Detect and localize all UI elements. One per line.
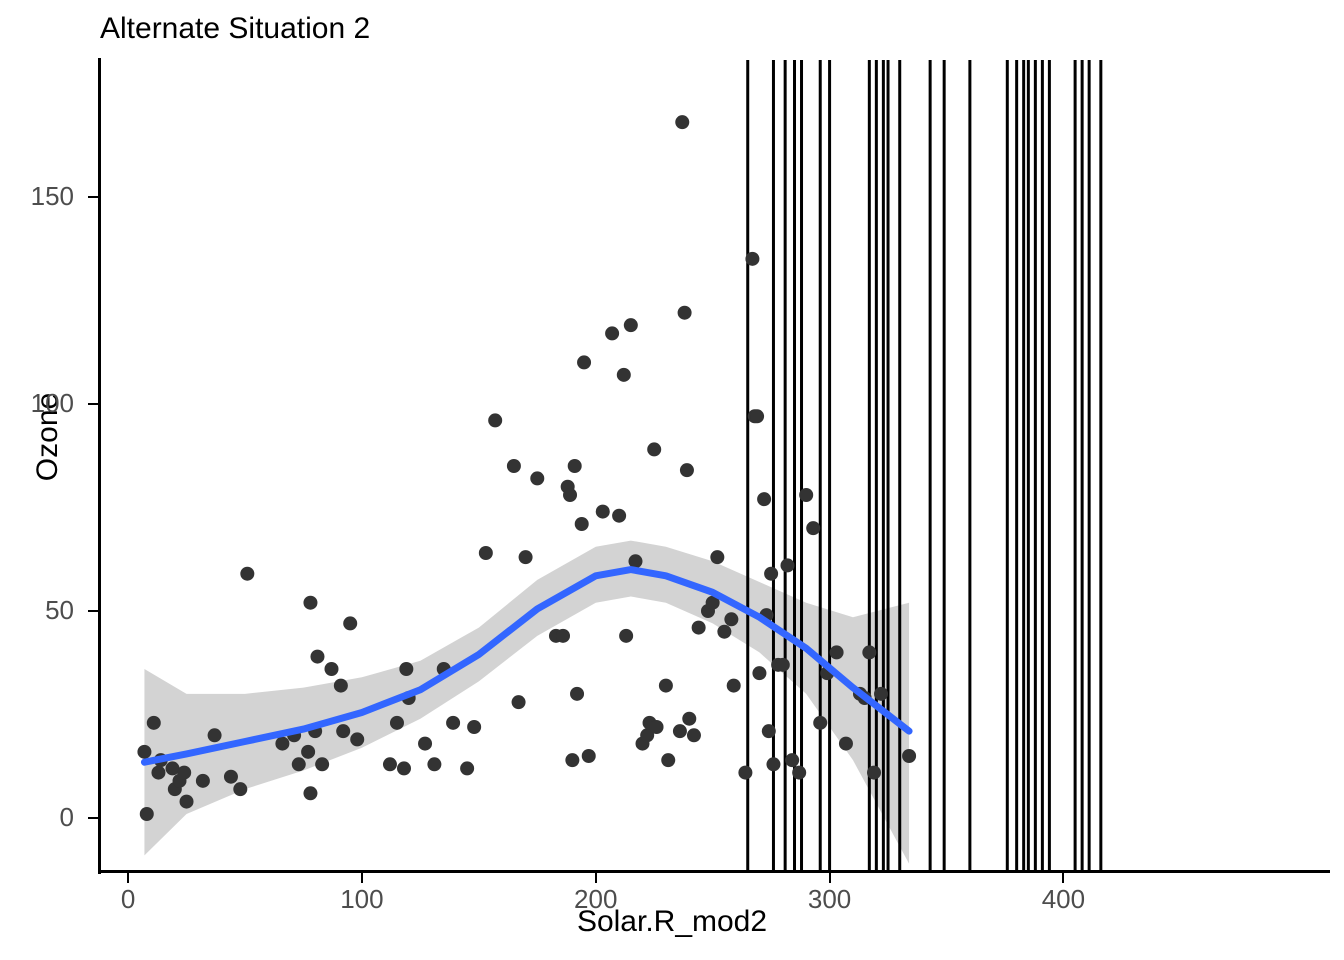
y-axis-line [98, 58, 101, 874]
x-tick-mark [595, 872, 597, 883]
x-tick-label: 0 [121, 884, 135, 915]
y-tick-label: 150 [31, 181, 74, 212]
plot-svg [100, 60, 1330, 872]
y-tick-mark [88, 817, 99, 819]
vertical-reference-lines [748, 60, 1101, 872]
y-tick-label: 50 [45, 595, 74, 626]
y-tick-mark [88, 610, 99, 612]
y-tick-mark [88, 196, 99, 198]
y-tick-label: 100 [31, 388, 74, 419]
x-axis-line [98, 870, 1330, 873]
x-tick-label: 400 [1042, 884, 1085, 915]
plot-panel [100, 60, 1330, 872]
chart-root: Alternate Situation 2 Ozone Solar.R_mod2… [0, 0, 1344, 960]
x-tick-label: 200 [574, 884, 617, 915]
x-tick-mark [829, 872, 831, 883]
x-tick-mark [127, 872, 129, 883]
y-tick-label: 0 [60, 802, 74, 833]
y-tick-mark [88, 403, 99, 405]
page-title: Alternate Situation 2 [100, 12, 370, 46]
x-tick-mark [361, 872, 363, 883]
x-tick-label: 100 [340, 884, 383, 915]
x-tick-label: 300 [808, 884, 851, 915]
x-axis-title: Solar.R_mod2 [0, 905, 1344, 939]
x-tick-mark [1062, 872, 1064, 883]
